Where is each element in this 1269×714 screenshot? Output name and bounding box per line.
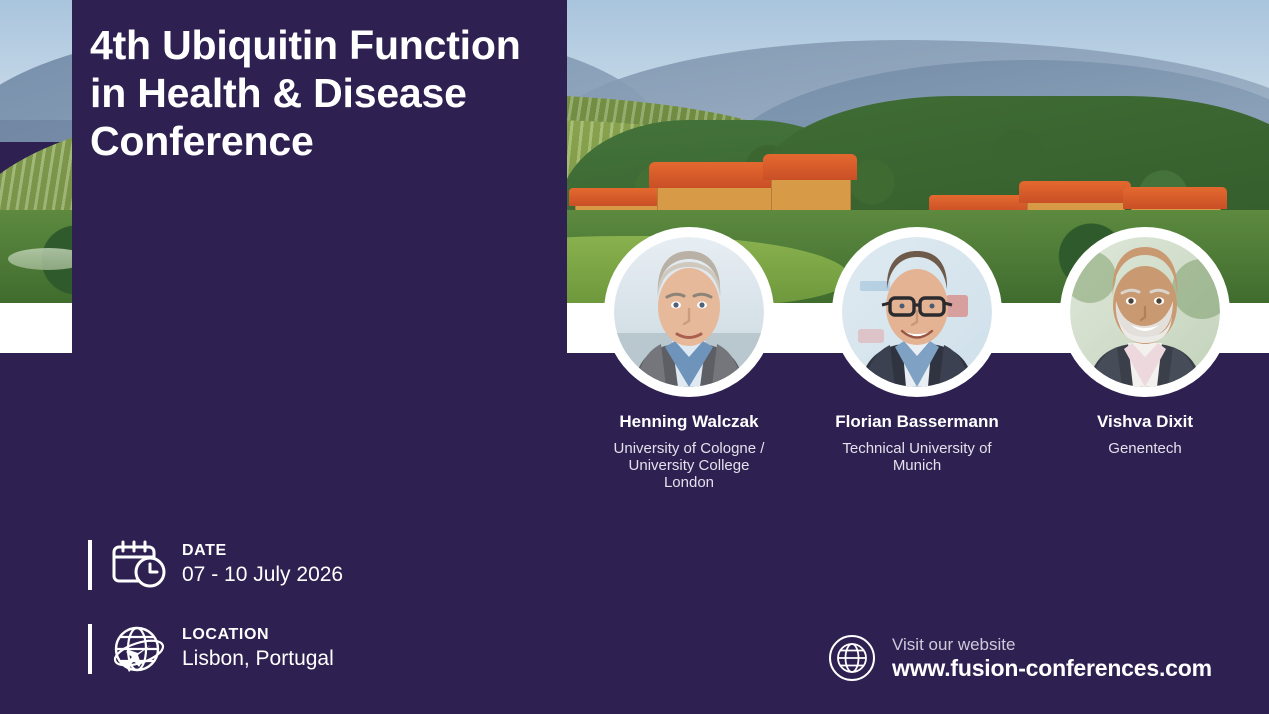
avatar (837, 232, 997, 392)
page-title: 4th Ubiquitin Function in Health & Disea… (90, 22, 555, 166)
speaker-card: Vishva Dixit Genentech (1031, 232, 1259, 458)
accent-bar (88, 624, 92, 674)
speakers-list: Henning Walczak University of Cologne / … (575, 232, 1269, 502)
globe-circle-icon (828, 634, 876, 682)
speaker-affiliation: Genentech (1031, 441, 1259, 458)
avatar (1065, 232, 1225, 392)
website-block[interactable]: Visit our website www.fusion-conferences… (828, 634, 1212, 682)
location-info-block: LOCATION Lisbon, Portugal (88, 622, 334, 676)
website-text: Visit our website www.fusion-conferences… (892, 635, 1212, 682)
date-label: DATE (182, 542, 343, 560)
website-url[interactable]: www.fusion-conferences.com (892, 655, 1212, 681)
portrait-vishva-dixit (1070, 237, 1220, 387)
conference-poster: 4th Ubiquitin Function in Health & Disea… (0, 0, 1269, 714)
speaker-name: Henning Walczak (575, 412, 803, 432)
speaker-name: Vishva Dixit (1031, 412, 1259, 432)
speaker-card: Florian Bassermann Technical University … (803, 232, 1031, 475)
speaker-affiliation: University of Cologne / University Colle… (575, 441, 803, 491)
avatar (609, 232, 769, 392)
title-panel: 4th Ubiquitin Function in Health & Disea… (72, 0, 567, 353)
location-label: LOCATION (182, 626, 334, 644)
date-text: DATE 07 - 10 July 2026 (182, 542, 343, 589)
speaker-affiliation: Technical University of Munich (803, 441, 1031, 475)
calendar-clock-icon (110, 538, 168, 592)
accent-bar (88, 540, 92, 590)
speaker-card: Henning Walczak University of Cologne / … (575, 232, 803, 492)
portrait-henning-walczak (614, 237, 764, 387)
location-text: LOCATION Lisbon, Portugal (182, 626, 334, 673)
speaker-name: Florian Bassermann (803, 412, 1031, 432)
globe-airplane-icon (110, 622, 168, 676)
website-prompt: Visit our website (892, 635, 1212, 655)
date-value: 07 - 10 July 2026 (182, 561, 343, 588)
location-value: Lisbon, Portugal (182, 645, 334, 672)
date-info-block: DATE 07 - 10 July 2026 (88, 538, 343, 592)
portrait-florian-bassermann (842, 237, 992, 387)
